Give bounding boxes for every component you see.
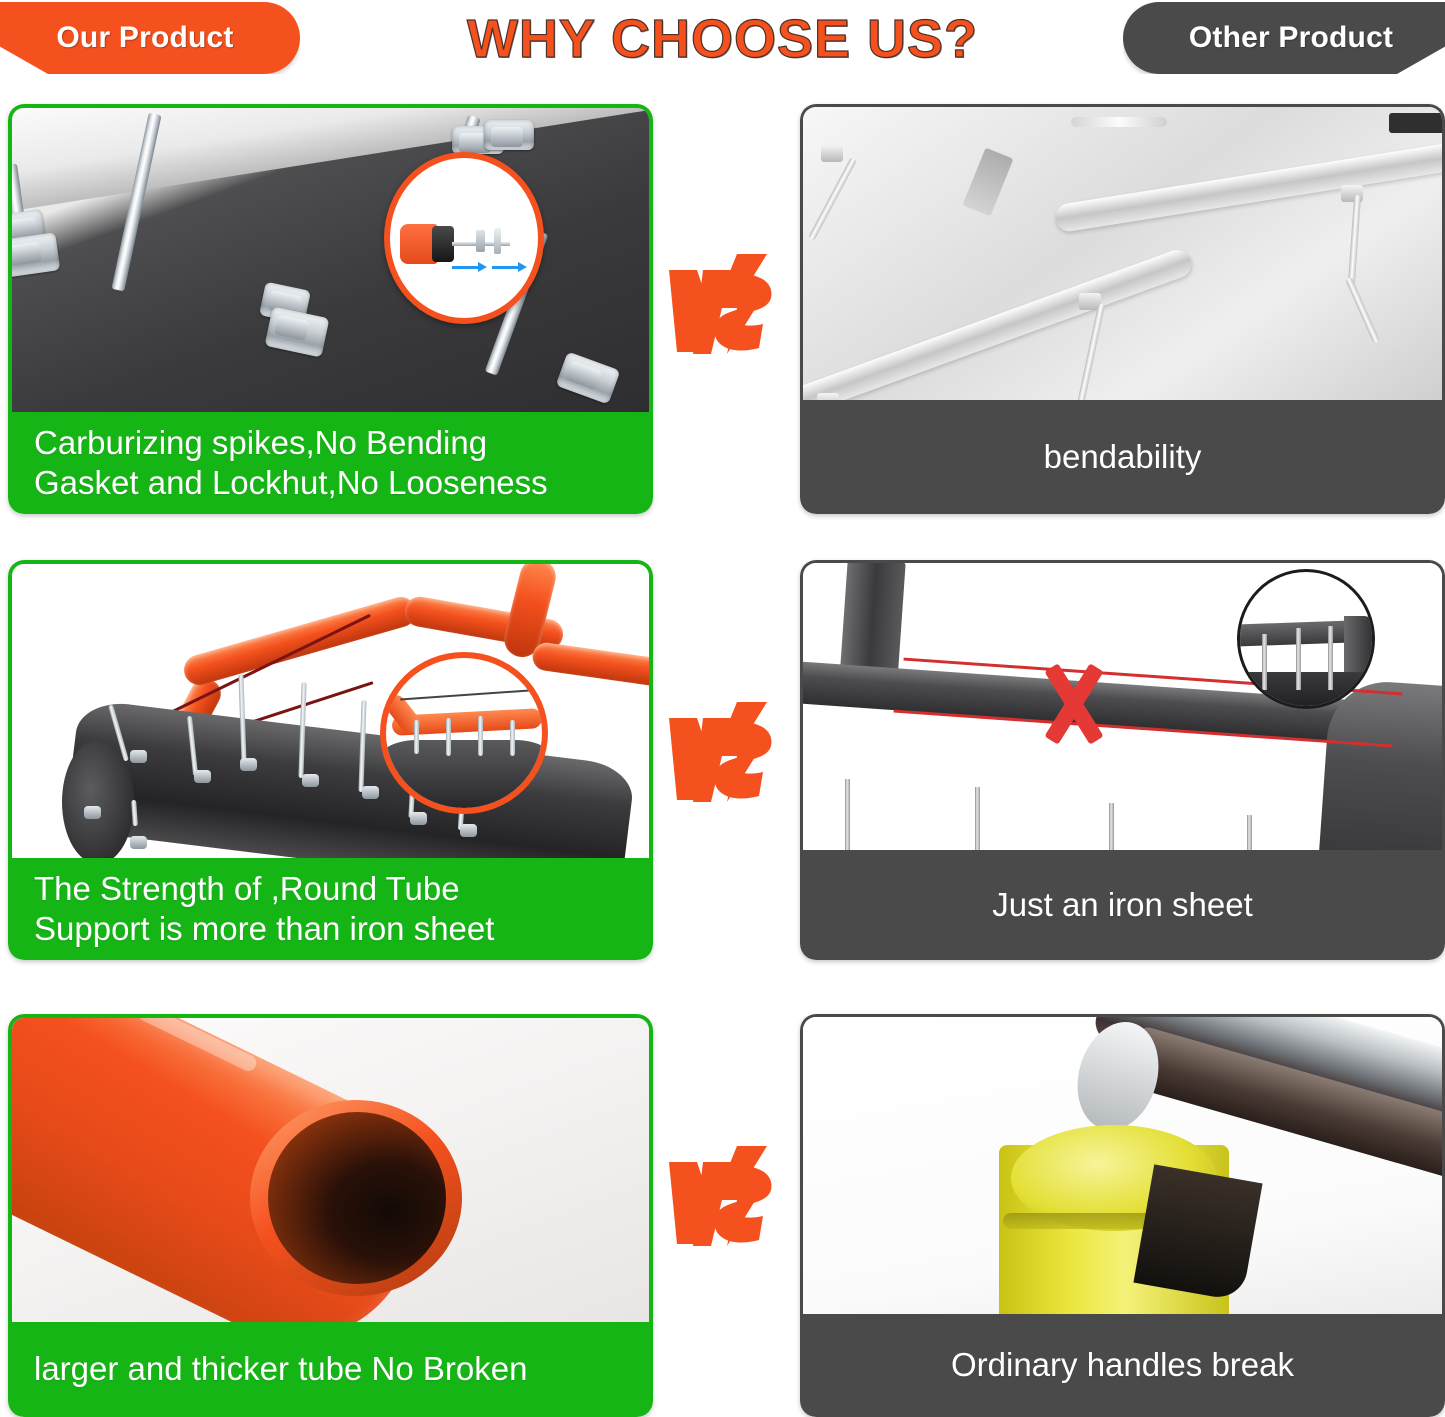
other-product-caption-1: bendability — [800, 400, 1445, 514]
our-product-panel-1: Carburizing spikes,No Bending Gasket and… — [8, 104, 653, 514]
vs-icon — [667, 1144, 787, 1248]
our-product-caption-1: Carburizing spikes,No Bending Gasket and… — [8, 412, 653, 514]
other-product-caption-text-2: Just an iron sheet — [992, 885, 1253, 925]
other-product-caption-text-1: bendability — [1044, 437, 1202, 477]
comparison-row-3: larger and thicker tube No Broken — [0, 1014, 1445, 1417]
our-product-image-3 — [8, 1014, 653, 1322]
our-product-caption-text-1: Carburizing spikes,No Bending Gasket and… — [8, 423, 548, 504]
vs-separator-slot-1 — [653, 104, 800, 514]
other-product-caption-text-3: Ordinary handles break — [951, 1345, 1294, 1385]
other-product-image-1 — [800, 104, 1445, 400]
other-product-label: Other Product — [1189, 21, 1393, 55]
vs-separator-slot-3 — [653, 1014, 800, 1417]
why-choose-us-infographic: Our Product WHY CHOOSE US? Other Product — [0, 0, 1445, 1417]
comparison-row-2: The Strength of ,Round Tube Support is m… — [0, 560, 1445, 960]
other-product-panel-1: bendability — [800, 104, 1445, 514]
our-product-caption-2: The Strength of ,Round Tube Support is m… — [8, 858, 653, 960]
vs-separator-slot-2 — [653, 560, 800, 960]
our-product-caption-text-2: The Strength of ,Round Tube Support is m… — [8, 869, 494, 950]
comparison-row-1: Carburizing spikes,No Bending Gasket and… — [0, 104, 1445, 514]
our-product-image-2 — [8, 560, 653, 858]
our-product-caption-3: larger and thicker tube No Broken — [8, 1322, 653, 1417]
other-product-image-3 — [800, 1014, 1445, 1314]
vs-icon — [667, 252, 787, 356]
header: Our Product WHY CHOOSE US? Other Product — [0, 0, 1445, 88]
our-product-caption-text-3: larger and thicker tube No Broken — [8, 1349, 527, 1389]
vs-icon — [667, 700, 787, 804]
our-product-image-1 — [8, 104, 653, 412]
other-product-caption-2: Just an iron sheet — [800, 850, 1445, 960]
other-product-image-2 — [800, 560, 1445, 850]
other-product-caption-3: Ordinary handles break — [800, 1314, 1445, 1417]
other-product-banner: Other Product — [1123, 2, 1445, 74]
other-product-panel-2: Just an iron sheet — [800, 560, 1445, 960]
our-product-panel-2: The Strength of ,Round Tube Support is m… — [8, 560, 653, 960]
our-product-panel-3: larger and thicker tube No Broken — [8, 1014, 653, 1417]
other-product-panel-3: Ordinary handles break — [800, 1014, 1445, 1417]
